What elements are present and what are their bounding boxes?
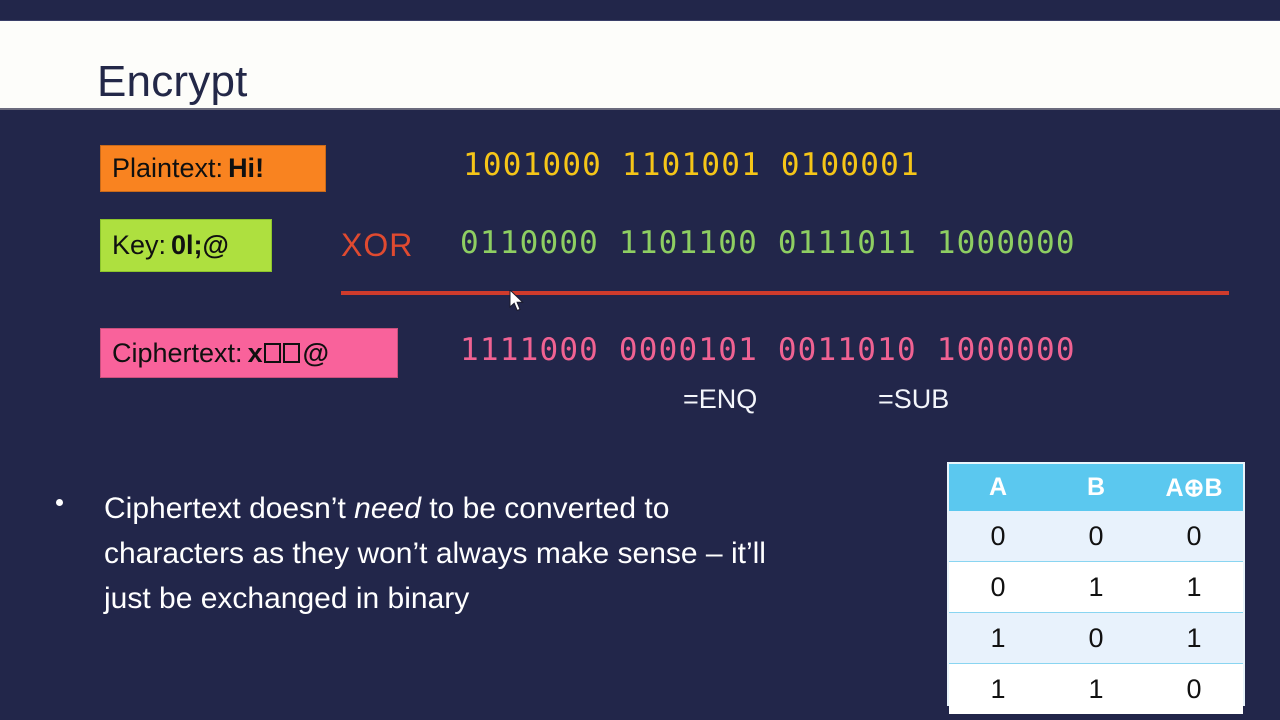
table-row: 1 1 0 [949, 664, 1243, 715]
bullet-dot-icon [56, 499, 63, 506]
page-title: Encrypt [97, 57, 248, 107]
cell-b: 1 [1047, 562, 1145, 613]
table-header-row: A B A⊕B [949, 464, 1243, 511]
cell-a: 0 [949, 562, 1047, 613]
cell-b: 0 [1047, 511, 1145, 562]
bullet-text: Ciphertext doesn’t need to be converted … [104, 486, 804, 621]
slide-canvas: Encrypt Plaintext: Hi! Key: 0l;@ Ciphert… [0, 0, 1280, 720]
cell-a: 0 [949, 511, 1047, 562]
cell-b: 0 [1047, 613, 1145, 664]
table-header-b: B [1047, 464, 1145, 511]
ciphertext-binary: 1111000 0000101 0011010 1000000 [460, 335, 1076, 366]
key-label-value: 0l;@ [171, 232, 229, 259]
table-row: 0 0 0 [949, 511, 1243, 562]
table-header-axorb: A⊕B [1145, 464, 1243, 511]
table-header-a: A [949, 464, 1047, 511]
missing-glyph-box-icon-1 [264, 343, 281, 363]
ciphertext-label-chip: Ciphertext: x @ [100, 328, 398, 378]
char-note-sub: =SUB [878, 386, 949, 413]
bullet-text-emphasis: need [354, 492, 421, 525]
key-label-prefix: Key: [112, 232, 166, 259]
cell-a: 1 [949, 664, 1047, 715]
cell-result: 1 [1145, 562, 1243, 613]
xor-divider-rule [341, 291, 1229, 295]
plaintext-binary: 1001000 1101001 0100001 [463, 150, 920, 181]
cell-result: 1 [1145, 613, 1243, 664]
cell-a: 1 [949, 613, 1047, 664]
ciphertext-label-prefix: Ciphertext: [112, 340, 243, 367]
cell-b: 1 [1047, 664, 1145, 715]
plaintext-label-prefix: Plaintext: [112, 155, 223, 182]
missing-glyph-box-icon-2 [283, 343, 300, 363]
plaintext-label-value: Hi! [228, 155, 264, 182]
table-row: 0 1 1 [949, 562, 1243, 613]
key-binary: 0110000 1101100 0111011 1000000 [460, 228, 1076, 259]
cell-result: 0 [1145, 664, 1243, 715]
bullet-text-part1: Ciphertext doesn’t [104, 492, 354, 525]
cell-result: 0 [1145, 511, 1243, 562]
title-band: Encrypt [0, 20, 1280, 110]
xor-truth-table: A B A⊕B 0 0 0 0 1 1 1 0 [947, 462, 1245, 706]
ciphertext-label-value-lead: x [248, 340, 263, 367]
key-label-chip: Key: 0l;@ [100, 219, 272, 272]
ciphertext-label-value-tail: @ [303, 340, 329, 367]
plaintext-label-chip: Plaintext: Hi! [100, 145, 326, 192]
xor-operator-label: XOR [341, 229, 413, 261]
char-note-enq: =ENQ [683, 386, 757, 413]
table-row: 1 0 1 [949, 613, 1243, 664]
